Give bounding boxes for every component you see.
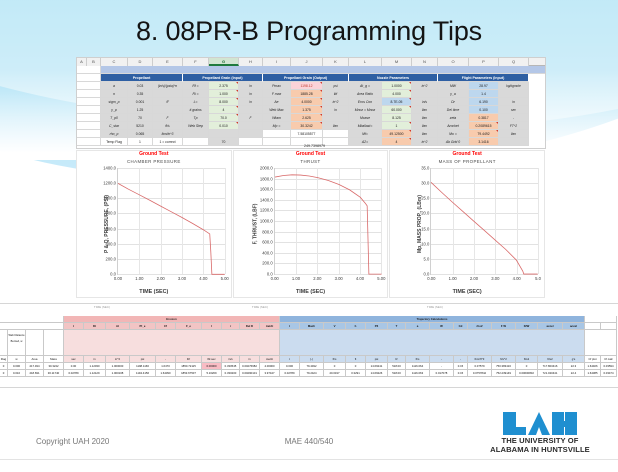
group-header-grain-input: Propellant Grain (Input) [183, 74, 263, 82]
r0-e5[interactable]: 1850.72115 [176, 363, 202, 370]
cell-nozzle-name-3[interactable]: Mnoz = Mnoz [349, 106, 382, 114]
chart-thrust[interactable]: Ground Test THRUST F, THRUST, (LBF) TIME… [233, 150, 389, 298]
r1-e1[interactable]: 1.12129 [84, 370, 106, 377]
column-header-F[interactable]: F [183, 58, 209, 66]
uah-logo-icon [501, 410, 579, 436]
left-header-flag: Flag [0, 356, 8, 363]
r1-t7[interactable]: 0.017078 [430, 370, 454, 377]
chart-1-gridline-x-5 [381, 168, 382, 274]
charts-strip: Ground Test CHAMBER PRESSURE P & Q, PRES… [76, 150, 546, 298]
r1-t1[interactable]: 79.2424 [300, 370, 324, 377]
table-row[interactable]: T_p0 70 F Tp 70.0 F Wtam 2.625 Mcase 8.1… [77, 114, 545, 122]
chart-0-series-0 [118, 183, 225, 274]
cell-nozzle-unit-0: in^2 [412, 82, 438, 90]
cell-prop-name-6[interactable]: rho_p [101, 130, 128, 138]
chart-1-xtick-4: 4.00 [356, 276, 364, 281]
unit-header-row: Flag w Area Mass sec in in^2 psi - lbf l… [0, 356, 618, 363]
traj-unit-2: ft/s [324, 356, 346, 363]
table-row[interactable]: C_star 5210 ft/s Web Step 0.010 Mp = 30.… [77, 122, 545, 130]
chart-0-series-svg [118, 168, 225, 275]
group-header-propellant: Propellant [101, 74, 183, 82]
footer-divider [0, 459, 618, 460]
temp-flag-value[interactable]: 1 [128, 138, 153, 146]
chart-1-xtick-3: 3.00 [335, 276, 343, 281]
chart-0-title: CHAMBER PRESSURE [77, 159, 231, 164]
r1-t8[interactable]: 0.15 [454, 370, 468, 377]
cell-grain-in-name-5[interactable]: Web Step [183, 122, 209, 130]
cell-flight-unit-3: sec [499, 106, 529, 114]
r1-e4[interactable]: 1.64390 [156, 370, 176, 377]
chart-0-gridline-x-5 [225, 168, 226, 274]
spreadsheet-bottom-panel[interactable]: TIME (SEC) TIME (SEC) TIME (SEC) Erosion… [0, 303, 618, 388]
cell-prop-value-0[interactable]: 0.03 [128, 82, 153, 90]
cell-grain-out-unit-4 [323, 114, 349, 122]
spreadsheet-column-header-row: A B C D E F G H I J K L M N O P Q [77, 58, 545, 66]
cell-nozzle-value-1[interactable]: 4.000 [382, 90, 412, 98]
chart-2-xlabel: TIME (SEC) [390, 289, 544, 295]
cell-prop-name-4[interactable]: T_p0 [101, 114, 128, 122]
cell-nozzle-unit-3: lbm [412, 106, 438, 114]
column-header-L[interactable]: L [349, 58, 382, 66]
cell-flight-value-3[interactable]: 0.100 [469, 106, 499, 114]
cell-flight-value-2[interactable]: 6.190 [469, 98, 499, 106]
group-header-nozzle: Nozzle Parameters [349, 74, 438, 82]
cell-nozzle-value-0[interactable]: 1.0000 [382, 82, 412, 90]
traj-header-12: accel [538, 323, 563, 330]
r0-t1[interactable]: 79.4492 [300, 363, 324, 370]
cell-grain-in-name-1[interactable]: Ri = [183, 90, 209, 98]
r1-t9[interactable]: 0.0757842 [468, 370, 492, 377]
r0-t0[interactable]: 0.000 [280, 363, 300, 370]
slide-canvas: 8. 08PR-B Programming Tips A B C D E F G… [0, 0, 618, 472]
cell-prop-unit-6: lbm/in^3 [153, 130, 183, 138]
cell-nozzle-name-6[interactable]: Mf= [349, 130, 382, 138]
r0-t12[interactable]: 717.803416 [538, 363, 563, 370]
r0-mass[interactable]: 30.3242 [44, 363, 64, 370]
column-header-O[interactable]: O [438, 58, 469, 66]
traj-unit-0: t [280, 356, 300, 363]
cell-prop-name-5[interactable]: C_star [101, 122, 128, 130]
erosion-unit-1: in [84, 356, 106, 363]
chart-2-ytick-2: 10.0 [421, 241, 429, 246]
erosion-header-8: Del D [240, 323, 260, 330]
cell-grain-in-name-2[interactable]: L= [183, 98, 209, 106]
r0-t10[interactable]: 750.383416 [492, 363, 516, 370]
chart-0-ytick-1: 200.0 [106, 256, 116, 261]
erosion-header-2: At [106, 323, 130, 330]
cell-grain-out-unit-0: psi [323, 82, 349, 90]
r1-t13[interactable]: 22.4 [563, 370, 585, 377]
column-header-E[interactable]: E [153, 58, 183, 66]
r1-area[interactable]: 218.691 [26, 370, 44, 377]
r0-t11[interactable]: 0 [516, 363, 538, 370]
cell-grain-out-name-1[interactable]: F max [263, 90, 291, 98]
column-header-A[interactable]: A [77, 58, 87, 66]
column-header-D[interactable]: D [128, 58, 153, 66]
r1-t11[interactable]: 0.00600802 [516, 370, 538, 377]
table-row[interactable]: a 0.03 (in/s)/(psia)^n Rf = 2.375 in Pma… [77, 82, 545, 90]
cell-grain-out-name-6[interactable] [263, 130, 291, 138]
cell-flight-name-4[interactable]: zeta [438, 114, 469, 122]
r0-t13[interactable]: 22.3 [563, 363, 585, 370]
r0-e1[interactable]: 1.12030 [84, 363, 106, 370]
chart-2-ytick-5: 25.0 [421, 196, 429, 201]
section-header-erosion: Erosion [64, 316, 280, 323]
chart-1-ytick-9: 1800.0 [260, 176, 273, 181]
chart-2-xtick-3: 3.00 [491, 276, 499, 281]
r1-e6[interactable]: 5.16269 [202, 370, 222, 377]
r1-t0[interactable]: 0.02789 [280, 370, 300, 377]
cell-grain-out-value-3[interactable]: 1.375 [291, 106, 323, 114]
erosion-unit-5: lbf [176, 356, 202, 363]
ghost-time-label-2: TIME (SEC) [375, 305, 495, 309]
column-header-B[interactable]: B [87, 58, 101, 66]
column-header-M[interactable]: M [382, 58, 412, 66]
cell-prop-unit-3 [153, 106, 183, 114]
column-header-C[interactable]: C [101, 58, 128, 66]
cell-nozzle-value-3[interactable]: 60.000 [382, 106, 412, 114]
chart-0-supertitle: Ground Test [77, 151, 231, 157]
cell-grain-in-unit-5 [239, 122, 263, 130]
cell-prop-name-3[interactable]: γ_p [101, 106, 128, 114]
column-header-J[interactable]: J [291, 58, 323, 66]
temp-flag-note: 1 = correct [153, 138, 183, 146]
r0-e8[interactable]: 0.00276682 [240, 363, 260, 370]
cell-grain-out-name-0[interactable]: Pmax [263, 82, 291, 90]
cell-grain-in-value-5[interactable]: 0.010 [209, 122, 239, 130]
r1-t12[interactable]: 721.020441 [538, 370, 563, 377]
cell-flight-value-1[interactable]: 1.4 [469, 90, 499, 98]
cell-grain-out-value-2[interactable]: 4.0000 [291, 98, 323, 106]
r0-t6[interactable]: 1116.064 [406, 363, 430, 370]
cell-flight-value-4[interactable]: 0.3817 [469, 114, 499, 122]
chart-2-ytick-4: 20.0 [421, 211, 429, 216]
r0-t5[interactable]: 518.00 [388, 363, 406, 370]
cell-nozzle-unit-5: lbm [412, 122, 438, 130]
left-unit-w: w [8, 356, 26, 363]
cell-flight-name-3[interactable]: Del time [438, 106, 469, 114]
r0-e3[interactable]: 1198.1166 [130, 363, 156, 370]
cell-flight-name-7[interactable]: Ab Grid 0 [438, 138, 469, 146]
r0-e9[interactable]: 4.00000 [260, 363, 280, 370]
left-block-spacer-row: Web Distance Burned, w [0, 330, 618, 356]
chart-1-xtick-1: 1.00 [292, 276, 300, 281]
traj-unit-3: ft [346, 356, 366, 363]
cell-nozzle-unit-6: lbm [412, 130, 438, 138]
r1-e9[interactable]: 3.97447 [260, 370, 280, 377]
r0-flag[interactable]: 0 [0, 363, 8, 370]
cell-nozzle-unit-1 [412, 90, 438, 98]
cell-grain-out-value-0[interactable]: 1198.12 [291, 82, 323, 90]
cell-flight-unit-5: FT^2 [499, 122, 529, 130]
cell-nozzle-value-2[interactable]: 8.7E-05 [382, 98, 412, 106]
erosion-unit-7: in/s [222, 356, 240, 363]
uah-logo: THE UNIVERSITY OF ALABAMA IN HUNTSVILLE [476, 410, 604, 454]
r1-e0[interactable]: 0.02789 [64, 370, 84, 377]
chart-1-series-svg [275, 168, 382, 275]
chart-1-ylabel: F, THRUST, (LBF) [252, 204, 258, 245]
cell-nozzle-name-0[interactable]: At_g = [349, 82, 382, 90]
page-title: 8. 08PR-B Programming Tips [0, 16, 618, 47]
traj-header-9: rho2 [468, 323, 492, 330]
chart-2-ytick-1: 5.0 [424, 256, 430, 261]
r1-web[interactable]: 0.010 [8, 370, 26, 377]
traj-header-10: F W [492, 323, 516, 330]
erosion-header-4: Cf [156, 323, 176, 330]
cell-nozzle-value-5[interactable]: 1 [382, 122, 412, 130]
cell-grain-in-value-3[interactable]: 4 [209, 106, 239, 114]
cell-grain-out-unit-6 [323, 130, 349, 138]
chart-1-xtick-0: 0.00 [271, 276, 279, 281]
traj-header-3: h [346, 323, 366, 330]
cell-prop-unit-0: (in/s)/(psia)^n [153, 82, 183, 90]
cell-nozzle-name-7[interactable]: A2= [349, 138, 382, 146]
cell-grain-in-name-0[interactable]: Rf = [183, 82, 209, 90]
erosion-unit-8: in [240, 356, 260, 363]
cell-grain-in-name-4[interactable]: Tp [183, 114, 209, 122]
cell-flight-value-7[interactable]: 3.1416 [469, 138, 499, 146]
cell-grain-in-value-0[interactable]: 2.375 [209, 82, 239, 90]
cell-grain-in-unitpad-6 [239, 130, 263, 138]
cell-grain-out-name-3[interactable]: Web Max [263, 106, 291, 114]
erosion-header-0: t [64, 323, 84, 330]
cell-prop-unit-5: ft/s [153, 122, 183, 130]
r0-t4[interactable]: 14.69241 [366, 363, 388, 370]
cell-nozzle-name-2[interactable]: Eros Con [349, 98, 382, 106]
cell-nozzle-name-1[interactable]: Area Ratio [349, 90, 382, 98]
cell-prop-value-4[interactable]: 70 [128, 114, 153, 122]
chart-chamber-pressure[interactable]: Ground Test CHAMBER PRESSURE P & Q, PRES… [76, 150, 232, 298]
cell-nozzle-value-7[interactable]: 4 [382, 138, 412, 146]
temp-flag-label: Temp Flag [101, 138, 128, 146]
cell-nozzle-unit-2: in/s [412, 98, 438, 106]
chart-2-title: MASS OF PROPELLANT [390, 159, 544, 164]
r0-tail0[interactable]: 1.64406 [585, 363, 601, 370]
chart-1-supertitle: Ground Test [234, 151, 388, 157]
erosion-header-5: F_e [176, 323, 202, 330]
r1-e7[interactable]: 0.330200 [222, 370, 240, 377]
traj-unit-7: - [430, 356, 454, 363]
spreadsheet-spacer-row [77, 66, 545, 74]
cell-prop-value-1[interactable]: 0.35 [128, 90, 153, 98]
cell-grain-out-unit-5: lbm [323, 122, 349, 130]
column-header-G[interactable]: G [209, 58, 239, 66]
column-name-header-row: t Dt At Pt_e Cf F_e I r Del D Ae/At t Ma… [0, 323, 618, 330]
chart-1-ytick-3: 600.0 [262, 240, 272, 245]
chart-0-xtick-5: 5.00 [221, 276, 229, 281]
column-header-Q[interactable]: Q [499, 58, 529, 66]
spreadsheet-top-panel[interactable]: A B C D E F G H I J K L M N O P Q Propel… [76, 57, 546, 149]
erosion-unit-4: - [156, 356, 176, 363]
chart-1-series-0 [275, 175, 382, 274]
chart-0-plot-area: 0.0200.0400.0600.0800.01000.01200.01400.… [117, 168, 225, 275]
chart-2-series-0 [431, 182, 538, 274]
r0-e4[interactable]: 1.6470 [156, 363, 176, 370]
r0-t9[interactable]: 0.07579 [468, 363, 492, 370]
cell-prop-value-6[interactable]: 0.065 [128, 130, 153, 138]
temp-flag-extra[interactable]: 70 [209, 138, 239, 146]
r1-t2[interactable]: 20.0197 [324, 370, 346, 377]
cell-grain-in-pad-6[interactable] [209, 130, 239, 138]
r1-t10[interactable]: 752.239149 [492, 370, 516, 377]
erosion-unit-3: psi [130, 356, 156, 363]
chart-1-title: THRUST [234, 159, 388, 164]
column-header-N[interactable]: N [412, 58, 438, 66]
r0-t2[interactable]: 0 [324, 363, 346, 370]
cell-grain-in-value-1[interactable]: 1.000 [209, 90, 239, 98]
r0-t7[interactable]: - [430, 363, 454, 370]
r0-t8[interactable]: 0.15 [454, 363, 468, 370]
cell-grain-out-name-4[interactable]: Wtam [263, 114, 291, 122]
left-header-mass: Mass [44, 356, 64, 363]
r0-e0[interactable]: 0.00 [64, 363, 84, 370]
chart-2-ytick-7: 35.0 [421, 166, 429, 171]
traj-header-8: Cd [454, 323, 468, 330]
r1-t6[interactable]: 1116.063 [406, 370, 430, 377]
column-header-I[interactable]: I [263, 58, 291, 66]
chart-mass-of-propellant[interactable]: Ground Test MASS OF PROPELLANT Mp, MASS … [389, 150, 545, 298]
cell-nozzle-unit-7: in^2 [412, 138, 438, 146]
cell-flight-unit-2: in [499, 98, 529, 106]
cell-prop-name-2[interactable]: sigm_p [101, 98, 128, 106]
erosion-header-9: Ae/At [260, 323, 280, 330]
r1-tail1[interactable]: 0.03474 [601, 370, 617, 377]
r1-t5[interactable]: 518.00 [388, 370, 406, 377]
chart-2-xtick-4: 4.00 [513, 276, 521, 281]
cell-grain-out-unit-1: lbf [323, 90, 349, 98]
table-row[interactable]: γ_p 1.25 # grains 4 Web Max 1.375 in Mno… [77, 106, 545, 114]
chart-1-xtick-5: 5.00 [377, 276, 385, 281]
chart-2-supertitle: Ground Test [390, 151, 544, 157]
cell-grain-out-unit-2: in^2 [323, 98, 349, 106]
cell-flight-value-6[interactable]: 79.4492 [469, 130, 499, 138]
cell-flight-value-5[interactable]: 0.2089615 [469, 122, 499, 130]
ghost-time-label-1: TIME (SEC) [200, 305, 320, 309]
traj-header-2: V [324, 323, 346, 330]
cell-flight-unit-4: - [499, 114, 529, 122]
cell-grain-in-unit-2: in [239, 98, 263, 106]
erosion-header-7: r [222, 323, 240, 330]
uah-logo-line1: THE UNIVERSITY OF [476, 436, 604, 445]
cell-nozzle-value-4[interactable]: 8.125 [382, 114, 412, 122]
chart-1-ytick-10: 2000.0 [260, 166, 273, 171]
r0-e7[interactable]: 0.330545 [222, 363, 240, 370]
r1-t4[interactable]: 14.69226 [366, 370, 388, 377]
cell-nozzle-name-4[interactable]: Mcase [349, 114, 382, 122]
cell-grain-out-value-4[interactable]: 2.625 [291, 114, 323, 122]
section-header-trajectory: Trajectory Calculations [280, 316, 585, 323]
cell-grain-out-value-1[interactable]: 1885.28 [291, 90, 323, 98]
erosion-unit-0: sec [64, 356, 84, 363]
r1-e8[interactable]: 0.00290101 [240, 370, 260, 377]
cell-prop-value-5[interactable]: 5210 [128, 122, 153, 130]
cell-flight-name-5[interactable]: Arocket [438, 122, 469, 130]
table-row[interactable]: 0 0.000 217.494 30.3242 0.00 1.12030 1.0… [0, 363, 618, 370]
traj-header-11: D/W [516, 323, 538, 330]
traj-unit-4: psi [366, 356, 388, 363]
r0-area[interactable]: 217.494 [26, 363, 44, 370]
traj-header-13: accel [563, 323, 585, 330]
r0-web[interactable]: 0.000 [8, 363, 26, 370]
cell-prop-value-3[interactable]: 1.25 [128, 106, 153, 114]
cell-flight-value-0[interactable]: 28.97 [469, 82, 499, 90]
cell-flight-name-2[interactable]: Dr [438, 98, 469, 106]
traj-header-7: W [430, 323, 454, 330]
r0-t3[interactable]: 0 [346, 363, 366, 370]
traj-unit-9: lbm/ft^3 [468, 356, 492, 363]
chart-2-xtick-5: 5.0 [535, 276, 541, 281]
r1-t3[interactable]: 0.3291 [346, 370, 366, 377]
r1-flag[interactable]: 0 [0, 370, 8, 377]
cell-grain-in-unit-3 [239, 106, 263, 114]
cell-grain-out-name-2[interactable]: Ae [263, 98, 291, 106]
chart-0-ytick-3: 600.0 [106, 226, 116, 231]
cell-flight-name-6[interactable]: Mo = [438, 130, 469, 138]
cell-nozzle-name-5[interactable]: Mballast= [349, 122, 382, 130]
traj-unit-13: g's [563, 356, 585, 363]
traj-unit-12: ft/s2 [538, 356, 563, 363]
column-header-P[interactable]: P [469, 58, 499, 66]
cell-nozzle-value-6[interactable]: 49.12500 [382, 130, 412, 138]
traj-unit-10: ft/s^2 [492, 356, 516, 363]
r1-e3[interactable]: 1194.4156 [130, 370, 156, 377]
cell-grain-out-value-5[interactable]: 30.3242 [291, 122, 323, 130]
group-header-grain-output: Propellant Grain (Output) [263, 74, 349, 82]
cell-grain-out-value-6[interactable]: 7.58105577 [291, 130, 323, 138]
chart-1-xlabel: TIME (SEC) [234, 289, 388, 295]
tail-header-0: Cf plot [585, 356, 601, 363]
chart-2-gridline-x-5 [538, 168, 539, 274]
r1-mass[interactable]: 30.11740 [44, 370, 64, 377]
chart-1-ytick-1: 200.0 [262, 261, 272, 266]
table-row[interactable]: rho_p 0.065 lbm/in^3 7.58105577 Mf= 49.1… [77, 130, 545, 138]
cell-flight-name-0[interactable]: MW [438, 82, 469, 90]
cell-prop-name-0[interactable]: a [101, 82, 128, 90]
column-header-K[interactable]: K [323, 58, 349, 66]
chart-0-xtick-4: 4.00 [199, 276, 207, 281]
table-row[interactable]: n 0.35 Ri = 1.000 in F max 1885.28 lbf A… [77, 90, 545, 98]
cell-grain-in-name-3[interactable]: # grains [183, 106, 209, 114]
r0-tail1[interactable]: 0.03594 [601, 363, 617, 370]
r1-e5[interactable]: 1853.67507 [176, 370, 202, 377]
cell-flight-name-1[interactable]: γ_a [438, 90, 469, 98]
cell-prop-name-1[interactable]: n [101, 90, 128, 98]
erosion-unit-6: lbf-sec [202, 356, 222, 363]
r0-e6[interactable]: 0.00000 [202, 363, 222, 370]
cell-flight-unit-6: lbm [499, 130, 529, 138]
table-row[interactable]: 0 0.010 218.691 30.11740 0.02789 1.12129… [0, 370, 618, 377]
table-row[interactable]: sigm_p 0.001 /F L= 8.000 in Ae 4.0000 in… [77, 98, 545, 106]
traj-header-5: T [388, 323, 406, 330]
cell-grain-in-value-2[interactable]: 8.000 [209, 98, 239, 106]
ghost-time-label-0: TIME (SEC) [42, 305, 162, 309]
column-header-H[interactable]: H [239, 58, 263, 66]
r1-e2[interactable]: 1.000108 [106, 370, 130, 377]
r0-e2[interactable]: 1.000000 [106, 363, 130, 370]
cell-grain-in-unit-0: in [239, 82, 263, 90]
erosion-header-3: Pt_e [130, 323, 156, 330]
traj-unit-11: ft/s2 [516, 356, 538, 363]
cell-grain-in-value-4[interactable]: 70.0 [209, 114, 239, 122]
cell-prop-value-2[interactable]: 0.001 [128, 98, 153, 106]
cell-grain-in-unit-4: F [239, 114, 263, 122]
chart-0-xtick-1: 1.00 [135, 276, 143, 281]
chart-1-ytick-6: 1200.0 [260, 208, 273, 213]
chart-0-xtick-0: 0.00 [114, 276, 122, 281]
chart-1-ytick-5: 1000.0 [260, 219, 273, 224]
r1-tail0[interactable]: 1.64385 [585, 370, 601, 377]
cell-grain-out-name-5[interactable]: Mp = [263, 122, 291, 130]
